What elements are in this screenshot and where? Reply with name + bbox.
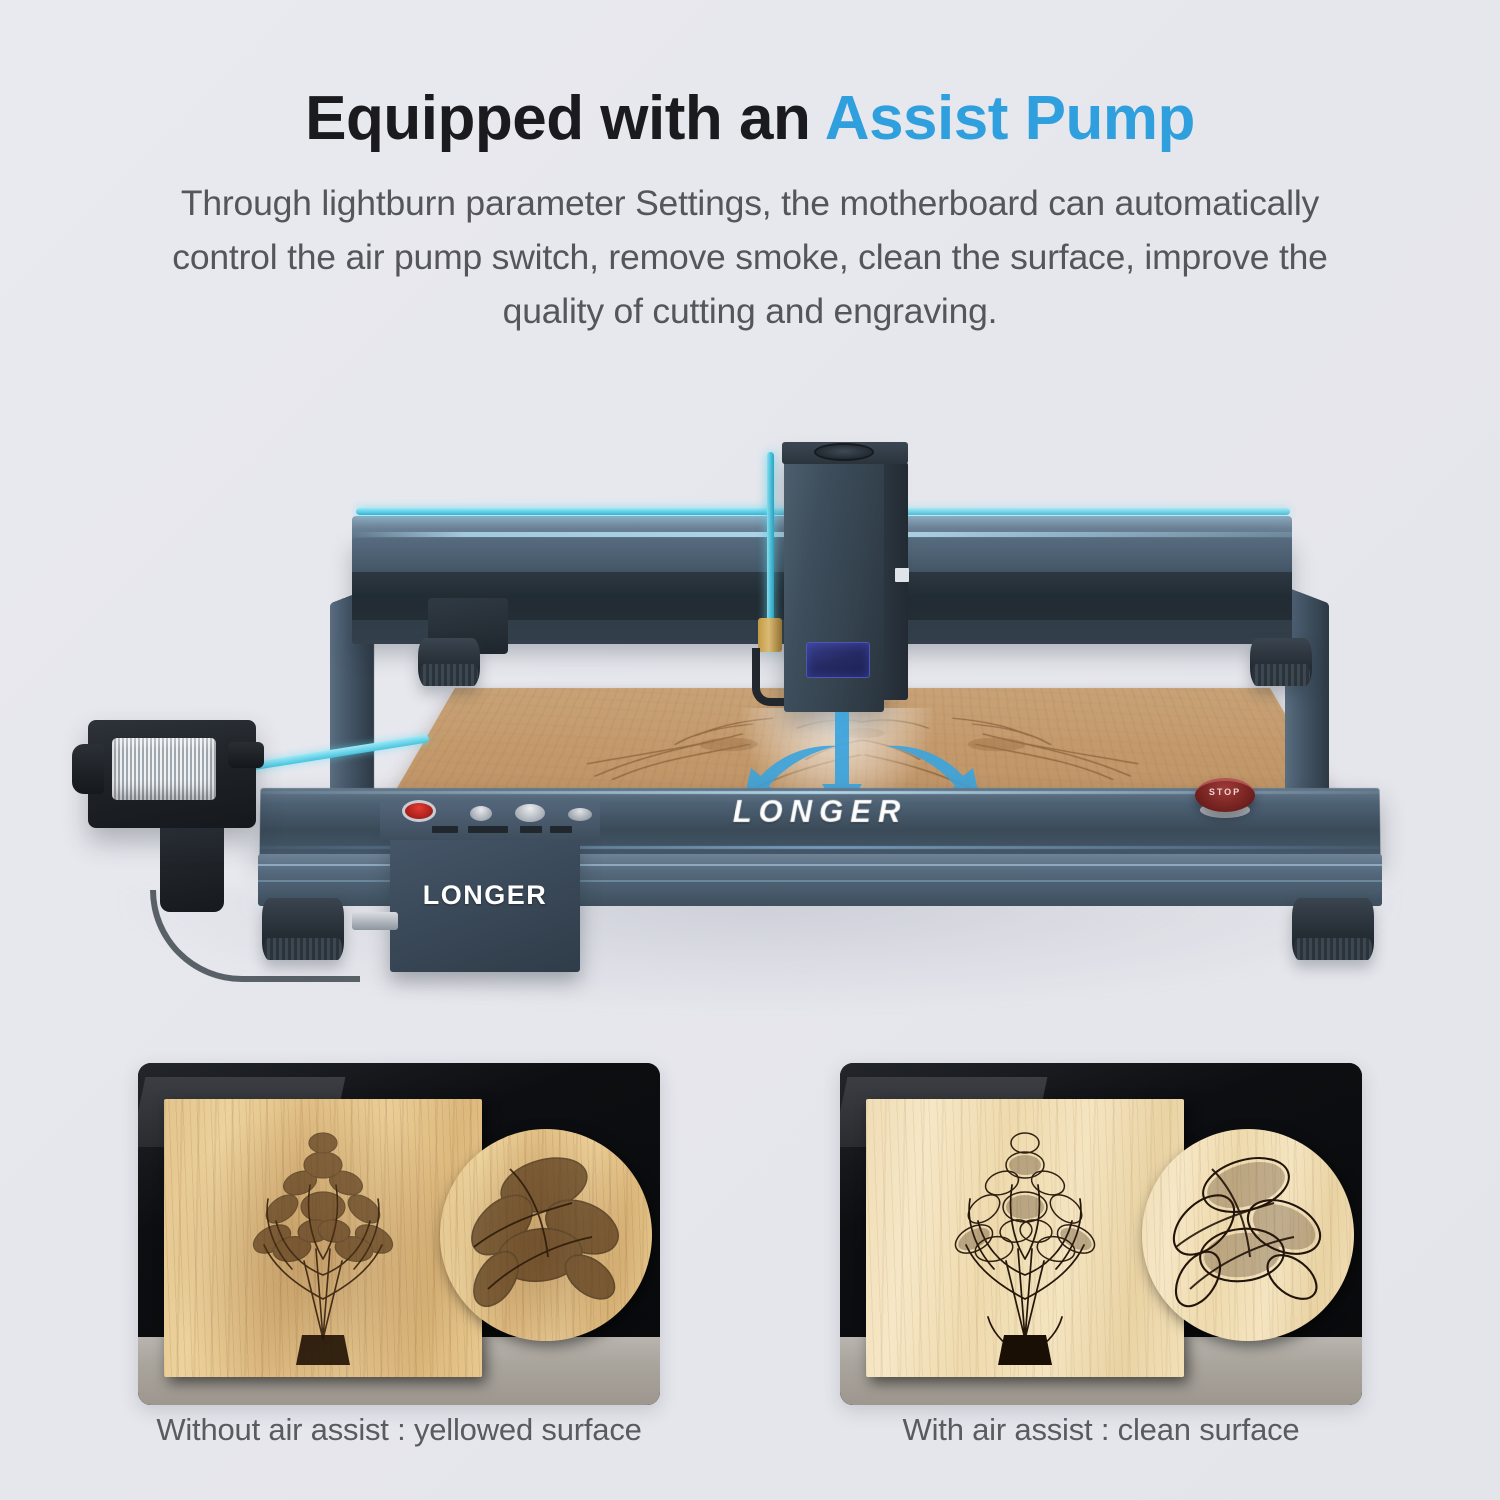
pump-cable-connector bbox=[352, 912, 398, 930]
disc-engraved-closeup bbox=[1142, 1129, 1354, 1341]
cooling-fan-icon bbox=[814, 443, 874, 461]
caption-with-air-assist: With air assist : clean surface bbox=[840, 1412, 1362, 1448]
foot-rear-left bbox=[418, 638, 480, 686]
comparison-panel-without-air-assist bbox=[138, 1063, 660, 1405]
engraved-wood-disc bbox=[440, 1129, 652, 1341]
brass-hose-fitting bbox=[758, 618, 782, 652]
foot-front-left bbox=[262, 898, 344, 960]
foot-rear-right bbox=[1250, 638, 1312, 686]
pump-end-cap bbox=[72, 744, 104, 794]
stop-button-label: STOP bbox=[1195, 787, 1255, 797]
laser-lens-window bbox=[806, 642, 870, 678]
board-engraved-bouquet bbox=[866, 1099, 1184, 1377]
comparison-panel-with-air-assist bbox=[840, 1063, 1362, 1405]
control-knob-b[interactable] bbox=[515, 804, 545, 822]
emergency-stop-knob[interactable] bbox=[402, 800, 436, 822]
air-hose-top-left bbox=[356, 508, 776, 515]
power-port bbox=[520, 826, 542, 833]
control-knob-a[interactable] bbox=[470, 806, 492, 821]
stop-button[interactable]: STOP bbox=[1195, 778, 1255, 812]
pump-mounting-bracket bbox=[160, 816, 224, 912]
control-box: LONGER bbox=[390, 832, 580, 972]
sd-card-slot bbox=[468, 826, 508, 833]
laser-engraver-illustration: LONGER LONGER STOP bbox=[0, 420, 1500, 1040]
caption-without-air-assist: Without air assist : yellowed surface bbox=[138, 1412, 660, 1448]
engraved-wood-disc bbox=[1142, 1129, 1354, 1341]
control-knob-c[interactable] bbox=[568, 808, 592, 821]
air-hose-elbow bbox=[752, 648, 786, 706]
board-engraved-bouquet bbox=[164, 1099, 482, 1377]
usb-port bbox=[432, 826, 458, 833]
headline-primary: Equipped with an bbox=[305, 84, 810, 153]
engraved-wood-board bbox=[164, 1099, 482, 1377]
headline-accent: Assist Pump bbox=[825, 84, 1195, 153]
disc-engraved-closeup bbox=[440, 1129, 652, 1341]
engraved-wood-board bbox=[866, 1099, 1184, 1377]
laser-head-badge bbox=[895, 568, 909, 582]
control-box-brand-logo: LONGER bbox=[390, 880, 580, 911]
page-title: Equipped with an Assist Pump bbox=[0, 86, 1500, 151]
header: Equipped with an Assist Pump Through lig… bbox=[0, 0, 1500, 339]
foot-front-right bbox=[1292, 898, 1374, 960]
aux-port bbox=[550, 826, 572, 833]
description-text: Through lightburn parameter Settings, th… bbox=[135, 177, 1365, 339]
pump-heatsink-fins bbox=[112, 738, 216, 800]
pump-outlet-port bbox=[228, 742, 264, 768]
comparison-gallery bbox=[0, 1063, 1500, 1408]
comparison-captions: Without air assist : yellowed surface Wi… bbox=[0, 1412, 1500, 1448]
